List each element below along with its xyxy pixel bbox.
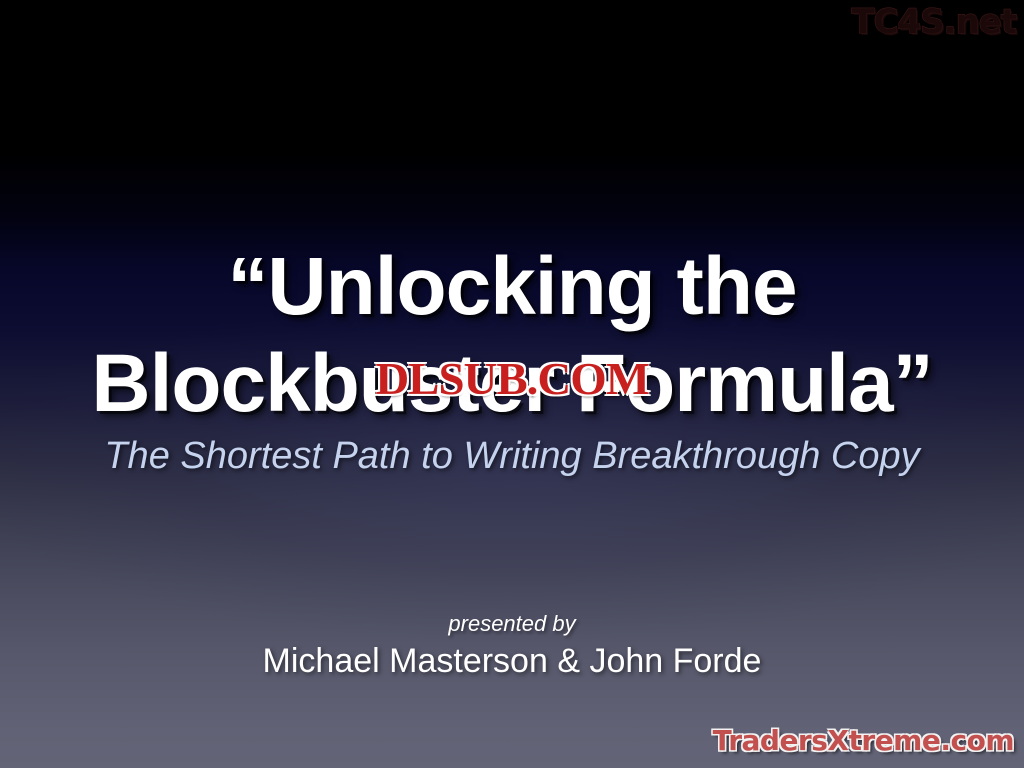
- slide-subtitle: The Shortest Path to Writing Breakthroug…: [0, 432, 1024, 480]
- watermark-tradersxtreme-text: TradersXtreme.com: [713, 724, 1014, 758]
- presented-by-label: presented by: [0, 610, 1024, 638]
- presentation-slide: TC4S.net “Unlocking the Blockbuster Form…: [0, 0, 1024, 768]
- presenter-block: presented by Michael Masterson & John Fo…: [0, 610, 1024, 684]
- title-line-2: Blockbuster Formula”: [0, 335, 1024, 432]
- watermark-tc4s-text: TC4S.net: [851, 2, 1016, 42]
- watermark-top-right: TC4S.net: [851, 2, 1016, 42]
- slide-title: “Unlocking the Blockbuster Formula”: [0, 238, 1024, 432]
- presenter-names: Michael Masterson & John Forde: [0, 638, 1024, 684]
- watermark-bottom-right: TradersXtreme.com: [713, 724, 1014, 758]
- title-line-1: “Unlocking the: [0, 238, 1024, 335]
